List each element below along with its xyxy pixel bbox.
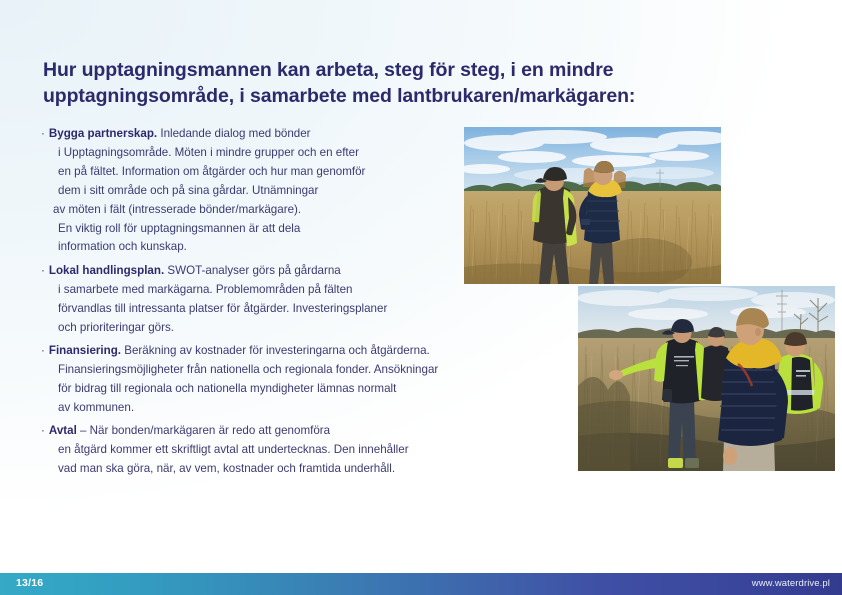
photo-field-two-men [464, 127, 721, 284]
photo-field-two-men-image [464, 127, 721, 284]
list-item: ·Avtal – När bonden/markägaren är redo a… [41, 422, 561, 479]
bullet-line: vad man ska göra, när, av vem, kostnader… [41, 460, 561, 479]
bullet-line: av kommunen. [41, 399, 561, 418]
page-title-line-1: Hur upptagningsmannen kan arbeta, steg f… [43, 57, 723, 83]
bullet-dot-icon: · [41, 264, 49, 277]
footer-url: www.waterdrive.pl [752, 578, 830, 589]
bullet-lead-label: Avtal [49, 424, 77, 437]
footer-bar: 13/16 www.waterdrive.pl [0, 573, 842, 595]
bullet-dot-icon: · [41, 344, 49, 357]
bullet-line: förvandlas till intressanta platser för … [41, 300, 561, 319]
bullet-line: ·Finansiering. Beräkning av kostnader fö… [41, 342, 561, 361]
bullet-dot-icon: · [41, 127, 49, 140]
bullet-line: och prioriteringar görs. [41, 319, 561, 338]
page-number: 13/16 [16, 577, 43, 589]
bullet-lead-label: Lokal handlingsplan. [49, 264, 164, 277]
bullet-text: SWOT-analyser görs på gårdarna [164, 264, 341, 277]
bullet-line: Finansieringsmöjligheter från nationella… [41, 361, 561, 380]
bullet-lead-label: Bygga partnerskap. [49, 127, 157, 140]
bullet-line: en åtgärd kommer ett skriftligt avtal at… [41, 441, 561, 460]
photo-field-group-image [578, 286, 835, 471]
bullet-text: Beräkning av kostnader för investeringar… [121, 344, 430, 357]
bullet-line: för bidrag till regionala och nationella… [41, 380, 561, 399]
photo-field-group [578, 286, 835, 471]
bullet-text: Inledande dialog med bönder [157, 127, 310, 140]
page-title-line-2: upptagningsområde, i samarbete med lantb… [43, 83, 723, 109]
bullet-text: – När bonden/markägaren är redo att geno… [77, 424, 330, 437]
bullet-line: ·Avtal – När bonden/markägaren är redo a… [41, 422, 561, 441]
bullet-lead-label: Finansiering. [49, 344, 121, 357]
bullet-dot-icon: · [41, 424, 49, 437]
list-item: ·Finansiering. Beräkning av kostnader fö… [41, 342, 561, 418]
slide-canvas: Hur upptagningsmannen kan arbeta, steg f… [0, 0, 842, 595]
page-title: Hur upptagningsmannen kan arbeta, steg f… [43, 57, 723, 109]
